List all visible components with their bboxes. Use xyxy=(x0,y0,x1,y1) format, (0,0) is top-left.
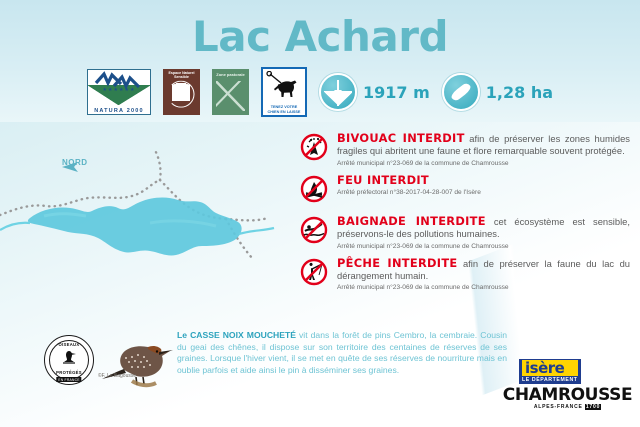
page-title: Lac Achard xyxy=(0,12,640,61)
rule-heading: PÊCHE INTERDITE xyxy=(337,256,457,270)
poster-root: Lac Achard ★★★★★★ NATURA 2000 Espace Nat… xyxy=(0,0,640,427)
species-section: OISEAUX PROTÉGÉS EN FRANCE © xyxy=(0,325,640,427)
map-svg xyxy=(0,118,320,333)
isere-logo: isère LE DÉPARTEMENT xyxy=(519,359,591,386)
no-swimming-icon xyxy=(300,215,330,250)
rule-text: BAIGNADE INTERDITE cet écosystème est se… xyxy=(337,215,630,241)
stat-altitude: 1917 m xyxy=(319,73,430,111)
chamrousse-logo: CHAMROUSSE ALPES-FRANCE 1700 xyxy=(500,385,635,410)
lake-surface-icon xyxy=(442,73,480,111)
species-heading: Le CASSE NOIX MOUCHETÉ xyxy=(177,330,296,340)
rule-heading: FEU INTERDIT xyxy=(337,173,429,187)
dog-sign-line2: CHIEN EN LAISSE xyxy=(268,110,301,114)
rule-reference: Arrêté municipal n°23-069 de la commune … xyxy=(337,243,630,250)
bird-silhouette-icon xyxy=(60,350,78,366)
badge-natura-2000: ★★★★★★ NATURA 2000 xyxy=(87,69,151,115)
chamrousse-name: CHAMROUSSE xyxy=(500,385,635,405)
natura-2000-label: NATURA 2000 xyxy=(88,108,150,114)
flower-petals-icon xyxy=(172,83,190,101)
no-fishing-icon xyxy=(300,257,330,292)
no-bivouac-icon xyxy=(300,132,330,167)
rule-heading: BIVOUAC INTERDIT xyxy=(337,131,465,145)
photo-credit: ©F. Le Bagousse xyxy=(98,373,136,379)
rule-item: FEU INTERDIT Arrêté préfectoral n°38-201… xyxy=(300,174,630,208)
altitude-value: 1917 m xyxy=(363,83,430,102)
pasture-scene-icon xyxy=(216,81,245,111)
eu-stars: ★★★★★★ xyxy=(103,87,136,93)
species-description: Le CASSE NOIX MOUCHETÉ vit dans la forêt… xyxy=(177,330,507,376)
rule-heading: BAIGNADE INTERDITE xyxy=(337,214,486,228)
isere-word: isère xyxy=(522,360,578,376)
badge-row: ★★★★★★ NATURA 2000 Espace Naturel Sensib… xyxy=(0,65,640,119)
stat-surface: 1,28 ha xyxy=(442,73,553,111)
rule-reference: Arrêté municipal n°23-069 de la commune … xyxy=(337,160,630,167)
rule-text: PÊCHE INTERDITE afin de préserver la fau… xyxy=(337,257,630,283)
nutcracker-bird-illustration xyxy=(96,331,174,389)
dog-sign-text: TENEZ VOTRE CHIEN EN LAISSE xyxy=(263,105,305,114)
rule-item: PÊCHE INTERDITE afin de préserver la fau… xyxy=(300,257,630,292)
zone-pastorale-label: Zone pastorale xyxy=(212,72,249,77)
rule-text: BIVOUAC INTERDIT afin de préserver les z… xyxy=(337,132,630,158)
badge-espace-naturel-sensible: Espace Naturel Sensible xyxy=(163,69,200,115)
surface-value: 1,28 ha xyxy=(486,83,553,102)
badge-zone-pastorale: Zone pastorale xyxy=(212,69,249,115)
no-fire-icon xyxy=(300,174,330,208)
rule-item: BAIGNADE INTERDITE cet écosystème est se… xyxy=(300,215,630,250)
rule-text: FEU INTERDIT xyxy=(337,174,630,187)
lpo-logo: OISEAUX PROTÉGÉS EN FRANCE xyxy=(44,335,94,385)
dog-on-leash-icon xyxy=(265,71,302,101)
lake-map: NORD xyxy=(0,118,320,333)
ens-label: Espace Naturel Sensible xyxy=(163,72,200,80)
rule-reference: Arrêté préfectoral n°38-2017-04-28-007 d… xyxy=(337,189,630,196)
chamrousse-year: 1700 xyxy=(585,404,601,410)
rules-list: BIVOUAC INTERDIT afin de préserver les z… xyxy=(300,132,630,298)
badge-dog-on-leash: TENEZ VOTRE CHIEN EN LAISSE xyxy=(261,67,307,117)
isere-subtitle: LE DÉPARTEMENT xyxy=(522,376,578,384)
lpo-top-text: OISEAUX xyxy=(45,342,93,347)
rule-item: BIVOUAC INTERDIT afin de préserver les z… xyxy=(300,132,630,167)
mountain-altitude-icon xyxy=(319,73,357,111)
chamrousse-tagline-text: ALPES-FRANCE xyxy=(534,404,583,410)
compass-label: NORD xyxy=(62,158,88,167)
lpo-bottom-text: PROTÉGÉS xyxy=(45,370,93,375)
rule-reference: Arrêté municipal n°23-069 de la commune … xyxy=(337,284,630,291)
lpo-bar-text: EN FRANCE xyxy=(56,377,81,382)
